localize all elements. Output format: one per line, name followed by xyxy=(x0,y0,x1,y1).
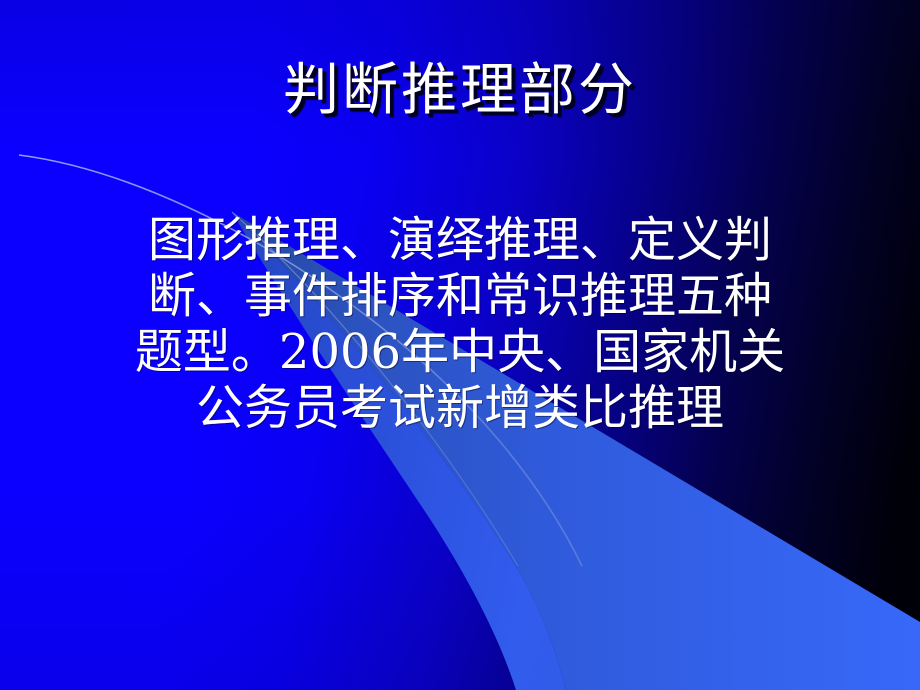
body-line-2: 断、事件排序和常识推理五种 xyxy=(60,268,860,324)
slide-title: 判断推理部分 xyxy=(0,58,920,124)
slide-body: 图形推理、演绎推理、定义判 断、事件排序和常识推理五种 题型。2006年中央、国… xyxy=(60,212,860,436)
slide-canvas: 判断推理部分 图形推理、演绎推理、定义判 断、事件排序和常识推理五种 题型。20… xyxy=(0,0,920,690)
body-line-4: 公务员考试新增类比推理 xyxy=(60,380,860,436)
slide-title-text: 判断推理部分 xyxy=(283,58,637,124)
body-line-3: 题型。2006年中央、国家机关 xyxy=(60,324,860,380)
body-line-1: 图形推理、演绎推理、定义判 xyxy=(60,212,860,268)
